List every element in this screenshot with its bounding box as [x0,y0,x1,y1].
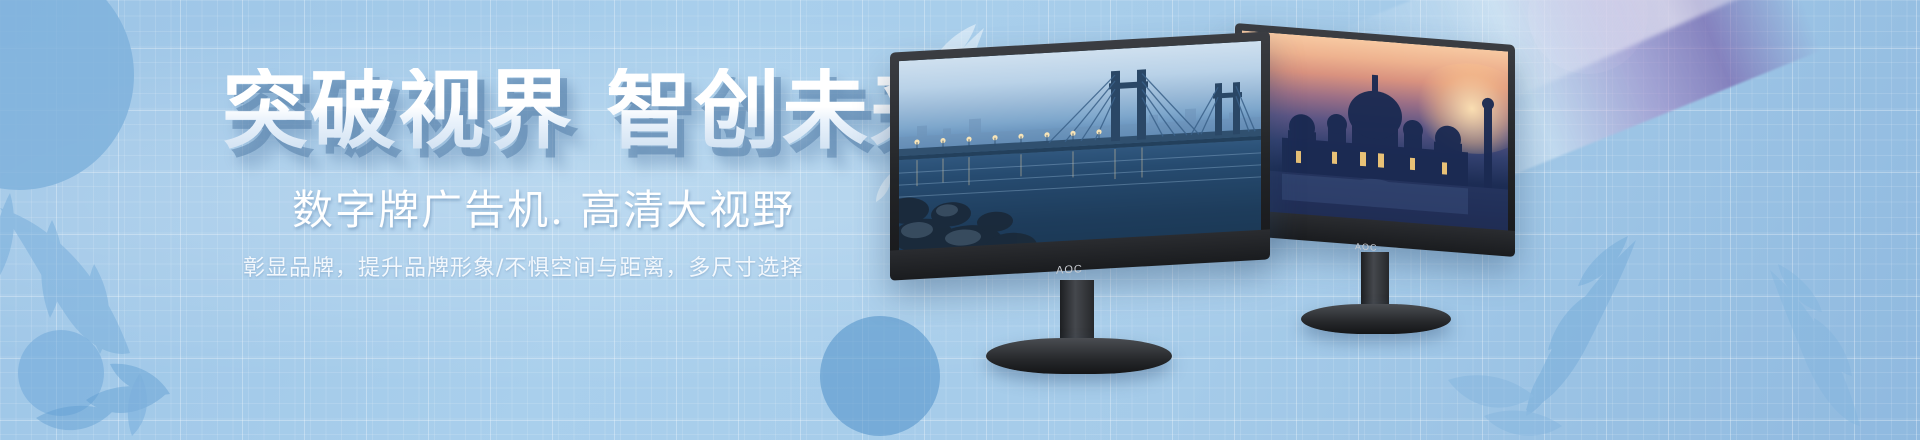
monitor-front-base [986,338,1172,374]
subtitle: 数字牌广告机. 高清大视野 [292,190,795,231]
monitor-back-base [1301,304,1451,334]
text-block: 突破视界 智创未来 数字牌广告机. 高清大视野 彰显品牌，提升品牌形象/不惧空间… [0,0,900,440]
monitor-back-screen [1242,31,1508,238]
promo-banner: 突破视界 智创未来 数字牌广告机. 高清大视野 彰显品牌，提升品牌形象/不惧空间… [0,0,1920,440]
monitor-front-screen [899,41,1261,259]
headline: 突破视界 智创未来 [222,68,958,154]
description: 彰显品牌，提升品牌形象/不惧空间与距离，多尺寸选择 [243,258,803,280]
product-images: AOC [880,0,1920,440]
monitor-front-brand-label: AOC [1056,263,1083,277]
